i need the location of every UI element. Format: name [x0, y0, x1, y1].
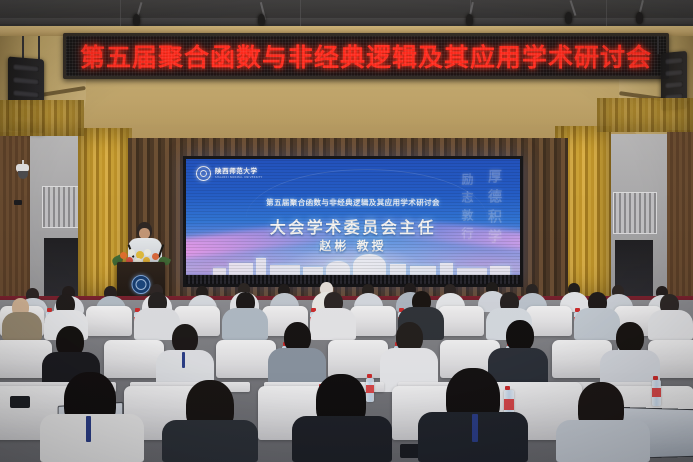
ceiling-lights-icon	[133, 14, 140, 26]
ceiling-seam	[120, 0, 121, 28]
speaker-hanger	[38, 36, 40, 60]
attendee-torso	[310, 308, 356, 340]
university-name-cn: 陕西师范大学	[215, 168, 263, 175]
screen-bottom-mesh	[186, 275, 520, 284]
podium-emblem-icon	[132, 275, 151, 294]
screen-subtitle: 第五届聚合函数与非经典逻辑及其应用学术研讨会	[186, 197, 520, 208]
attendee-torso	[292, 416, 392, 462]
wood-wall-panel-right	[667, 130, 693, 302]
projection-screen-content: 励志敦行 厚德积学 陕西师范大学 SHAANXI NORMAL UNIVERSI…	[186, 159, 520, 284]
led-pixel-grid	[66, 36, 666, 76]
attendee-torso	[648, 310, 693, 340]
speaker-hanger	[657, 36, 659, 54]
led-banner: 第五届聚合函数与非经典逻辑及其应用学术研讨会	[63, 33, 669, 79]
speaker-hanger	[22, 36, 24, 60]
university-logo: 陕西师范大学 SHAANXI NORMAL UNIVERSITY	[196, 166, 263, 181]
ceiling-seam	[300, 0, 301, 28]
projection-screen: 励志敦行 厚德积学 陕西师范大学 SHAANXI NORMAL UNIVERSI…	[183, 156, 523, 287]
phone[interactable]	[10, 396, 30, 408]
seat	[328, 340, 388, 378]
wood-wall-panel-left	[0, 132, 30, 308]
lanyard	[472, 414, 478, 442]
valance-right	[597, 98, 693, 132]
attendee-torso	[2, 312, 42, 340]
seat	[104, 340, 164, 378]
ceiling-lights-icon	[258, 14, 265, 26]
attendee-torso	[556, 420, 650, 462]
screen-headline: 大会学术委员会主任	[186, 214, 520, 238]
campus-skyline-graphic	[186, 247, 520, 277]
seat	[350, 306, 396, 336]
ceiling-seam	[606, 0, 607, 28]
university-emblem-icon	[196, 166, 211, 181]
conference-hall-photo: 第五届聚合函数与非经典逻辑及其应用学术研讨会	[0, 0, 693, 462]
wall-fixture	[14, 200, 22, 205]
university-name-en: SHAANXI NORMAL UNIVERSITY	[215, 176, 263, 179]
water-bottle	[366, 378, 374, 402]
seat	[86, 306, 132, 336]
seat	[438, 306, 484, 336]
lanyard	[182, 352, 185, 368]
attendee-torso	[162, 420, 258, 462]
lanyard	[86, 416, 91, 442]
attendee-torso	[574, 308, 620, 340]
attendee-torso	[40, 414, 144, 462]
ceiling-strip	[0, 18, 693, 24]
ceiling-lights-icon	[565, 12, 572, 24]
hvac-grille-icon	[613, 192, 657, 234]
ceiling-lights-icon	[636, 12, 643, 24]
seat	[216, 340, 276, 378]
water-bottle	[652, 380, 661, 406]
valance-left	[0, 100, 84, 136]
attendee-torso	[222, 308, 268, 340]
ceiling-lights-icon	[466, 14, 473, 26]
